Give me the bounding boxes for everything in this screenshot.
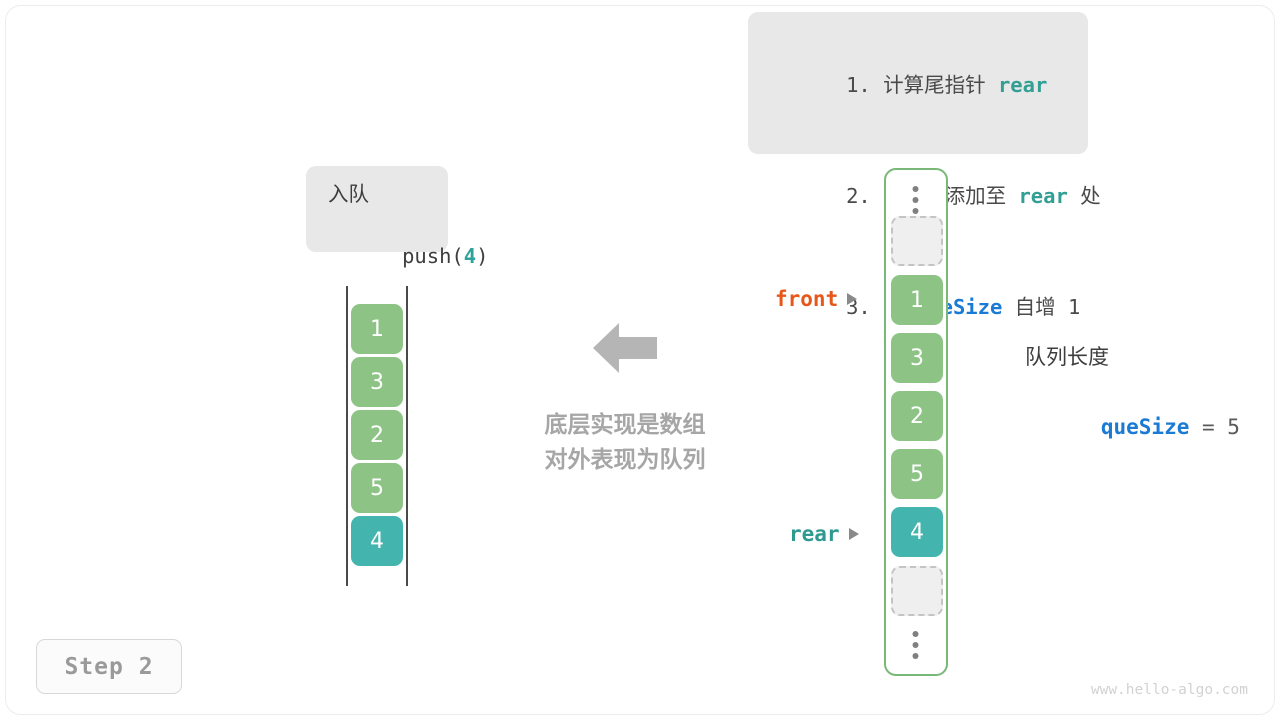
step-badge-label: Step 2 [64,654,153,680]
array-slot: 3 [891,333,943,383]
array-view: 1 3 2 5 4 [884,168,948,676]
array-slot-empty [891,216,943,266]
instruction-1-prefix: 1. 计算尾指针 [846,73,998,97]
operation-call-prefix: push( [402,244,464,268]
instruction-1-code: rear [998,73,1047,97]
array-slot: 2 [891,391,943,441]
queue-cell: 5 [351,463,403,513]
center-note-line-2: 对外表现为队列 [500,443,750,478]
rear-arrow-icon [849,528,859,540]
instruction-panel: 1. 计算尾指针 rear 2. 将元素添加至 rear 处 3. 将 queS… [748,12,1088,154]
left-arrow-icon [593,320,657,376]
queue-size-var: queSize [1101,415,1190,439]
array-slot-empty [891,566,943,616]
array-slot-new: 4 [891,507,943,557]
instruction-3-suffix: 自增 1 [1002,295,1080,319]
operation-call-suffix: ) [476,244,488,268]
instruction-line-1: 1. 计算尾指针 rear [772,30,1066,141]
rear-pointer-label: rear [789,522,859,546]
queue-size-value: = 5 [1189,415,1240,439]
array-slot: 1 [891,275,943,325]
front-pointer-label: front [775,287,857,311]
queue-cell: 3 [351,357,403,407]
queue-cell: 2 [351,410,403,460]
rear-pointer-text: rear [789,522,840,546]
ellipsis-bottom-icon [913,631,920,664]
instruction-2-code: rear [1018,184,1067,208]
queue-rail-right [406,286,408,586]
center-note: 底层实现是数组 对外表现为队列 [500,408,750,478]
queue-rail-left [346,286,348,586]
queue-cell-new: 4 [351,516,403,566]
center-note-line-1: 底层实现是数组 [500,408,750,443]
front-pointer-text: front [775,287,838,311]
front-arrow-icon [847,293,857,305]
queue-size-expression: queSize = 5 [1025,373,1240,481]
diagram-canvas: 1. 计算尾指针 rear 2. 将元素添加至 rear 处 3. 将 queS… [0,0,1280,720]
operation-label-box: 入队 push(4) [306,166,448,252]
queue-view: 1 3 2 5 4 [346,286,408,586]
operation-title: 入队 [328,179,448,210]
queue-size-info: 队列长度 queSize = 5 [1025,341,1240,481]
array-slot: 5 [891,449,943,499]
step-badge: Step 2 [36,639,182,694]
ellipsis-top-icon [913,186,920,219]
queue-size-label: 队列长度 [1025,341,1240,373]
queue-cell: 1 [351,304,403,354]
instruction-2-suffix: 处 [1068,184,1101,208]
watermark: www.hello-algo.com [1091,682,1248,698]
operation-call-value: 4 [464,244,476,268]
